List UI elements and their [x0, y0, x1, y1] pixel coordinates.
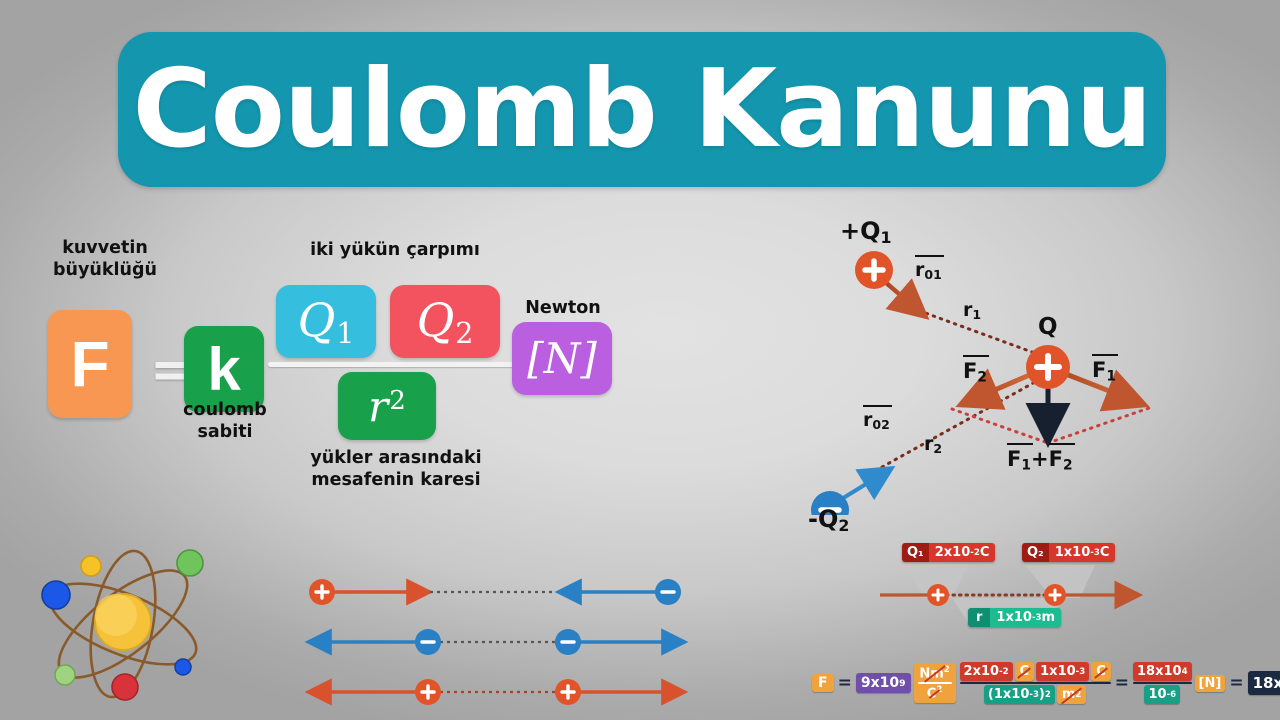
calc-den-unit-m2: m2 [1057, 685, 1087, 704]
atom-electron-red [112, 674, 138, 700]
atom-electron-green-top [177, 550, 203, 576]
calc-F-symbol: F [812, 674, 834, 692]
atom-electron-blue-small [175, 659, 191, 675]
caption-r2-line2: mesafenin karesi [286, 470, 506, 492]
atom-electron-green-small [55, 665, 75, 685]
calc-num-unit-c1: C [1015, 662, 1035, 681]
tile-Q1-base: Q [298, 293, 336, 347]
caption-force-line1: kuvvetin [30, 238, 180, 260]
fraction-bar [268, 362, 514, 367]
calc-equals-1: = [834, 673, 856, 693]
formula-tile-newton-unit: [N] [512, 322, 612, 395]
info-q2-key: Q₂ [1022, 543, 1049, 562]
parallelogram-side-right [1048, 407, 1152, 443]
caption-force-line2: büyüklüğü [30, 260, 180, 282]
force-row-attraction [309, 579, 681, 605]
tile-Q2-base: Q [417, 293, 455, 347]
vector-r02 [840, 468, 892, 500]
calc-equals-2: = [1111, 673, 1133, 693]
info-box-q1: Q₁ 2x10-2 C [902, 543, 995, 562]
calc-final-answer: 18x1010 [1248, 671, 1280, 695]
tile-r-base: r [368, 382, 388, 431]
calc-main-fraction: 2x10-2 C 1x10-3 C (1x10-3)2 m2 [960, 662, 1111, 704]
calc-k-unit: Nm2 C2 [914, 663, 956, 704]
calc-num-unit-c2: C [1091, 662, 1111, 681]
info-q2-value: 1x10-3 C [1049, 543, 1116, 562]
label-r02: r02 [863, 409, 890, 432]
page-title: Coulomb Kanunu [132, 56, 1151, 164]
label-r1: r1 [963, 299, 981, 322]
tile-Q1-sub: 1 [336, 317, 354, 350]
calc-k-value: 9x109 [856, 673, 911, 693]
calc-result-numerator: 18x104 [1133, 662, 1192, 681]
info-r-value: 1x10-3m [990, 608, 1061, 627]
label-r01: r01 [915, 259, 942, 282]
atom-illustration [18, 532, 228, 712]
force-interaction-rows [300, 570, 690, 710]
atom-nucleus-highlight [95, 594, 137, 636]
formula-tile-F: F [48, 310, 132, 418]
label-F1: F1 [1092, 358, 1116, 384]
atom-electron-yellow [81, 556, 101, 576]
charge-setup-diagram: Q₁ 2x10-2 C Q₂ 1x10-3 C r 1x10-3m [880, 540, 1210, 640]
info-r-key: r [968, 608, 990, 627]
info-q1-value: 2x10-2 C [929, 543, 996, 562]
calc-equals-3: = [1225, 673, 1247, 693]
force-vector-diagram: +Q1 r01 r1 Q F2 F1 r02 r2 F1+F2 -Q2 [800, 215, 1220, 515]
caption-force-magnitude: kuvvetin büyüklüğü [30, 238, 180, 282]
calc-numerator: 2x10-2 C 1x10-3 C [960, 662, 1111, 681]
label-Q: Q [1038, 314, 1058, 340]
force-row-repulsion-positive [308, 679, 685, 705]
label-Q2: -Q2 [808, 505, 849, 535]
calc-unit-newton-mid: [N] [1195, 675, 1226, 692]
label-Q1: +Q1 [840, 217, 892, 247]
label-resultant-force: F1+F2 [1007, 447, 1073, 473]
label-r2: r2 [924, 433, 942, 456]
calc-result-fraction: 18x104 10-6 [1133, 662, 1192, 704]
calc-den-r-squared: (1x10-3)2 [984, 685, 1055, 704]
info-box-distance: r 1x10-3m [968, 608, 1061, 627]
force-row-repulsion-negative [308, 629, 685, 655]
calc-result-denominator: 10-6 [1144, 685, 1180, 704]
caption-k-line1: coulomb [166, 400, 284, 422]
caption-charge-product: iki yükün çarpımı [290, 240, 500, 262]
caption-coulomb-constant: coulomb sabiti [166, 400, 284, 444]
tile-r-sup: 2 [389, 386, 406, 416]
formula-tile-r-squared: r2 [338, 372, 436, 440]
vector-r01 [884, 281, 926, 317]
calc-num-q2: 1x10-3 [1036, 662, 1089, 681]
atom-electron-blue-large [42, 581, 70, 609]
title-banner: Coulomb Kanunu [118, 32, 1166, 187]
caption-r2-line1: yükler arasındaki [286, 448, 506, 470]
worked-calculation: F = 9x109 Nm2 C2 2x10-2 C 1x10-3 C (1x10… [812, 655, 1272, 711]
label-F2: F2 [963, 359, 987, 385]
info-box-q2: Q₂ 1x10-3 C [1022, 543, 1115, 562]
calc-num-q1: 2x10-2 [960, 662, 1013, 681]
infographic-canvas: Coulomb Kanunu kuvvetin büyüklüğü iki yü… [0, 0, 1280, 720]
info-q1-key: Q₁ [902, 543, 929, 562]
calc-k-unit-denominator: C2 [927, 685, 943, 701]
formula-tile-Q2: Q2 [390, 285, 500, 358]
tile-N-text: [N] [527, 334, 597, 383]
caption-distance-squared: yükler arasındaki mesafenin karesi [286, 448, 506, 492]
calc-denominator: (1x10-3)2 m2 [984, 685, 1086, 704]
formula-tile-Q1: Q1 [276, 285, 376, 358]
calc-k-unit-numerator: Nm2 [919, 665, 949, 681]
caption-newton: Newton [508, 298, 618, 320]
tile-Q2-sub: 2 [455, 317, 473, 350]
caption-k-line2: sabiti [166, 422, 284, 444]
parallelogram-side-left [952, 409, 1048, 443]
